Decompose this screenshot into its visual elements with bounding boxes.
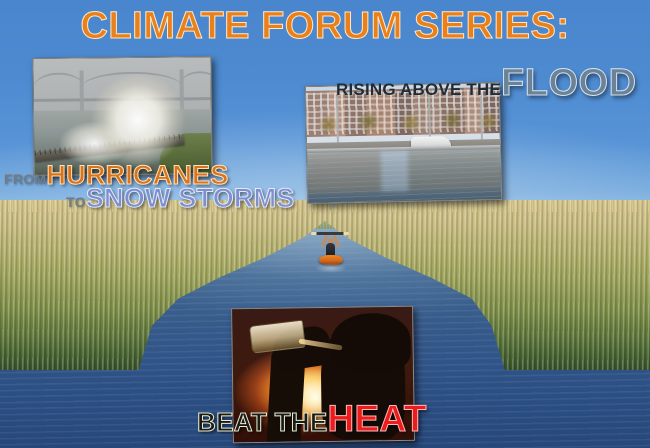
climate-forum-poster: CLIMATE FORUM SERIES: [0, 0, 650, 448]
caption-emphasis-snow-storms: SNOW STORMS [86, 183, 295, 214]
kayak-wake [315, 263, 347, 273]
caption-lead-to: TO [66, 194, 86, 210]
poster-title: CLIMATE FORUM SERIES: [0, 5, 650, 48]
caption-to-snow-storms: TO SNOW STORMS [66, 183, 295, 214]
caption-lead-from: FROM [4, 171, 46, 187]
silhouette-hair [330, 313, 411, 372]
caption-rising-above-the-flood: RISING ABOVE THE FLOOD [336, 62, 637, 105]
water-reflection [307, 149, 501, 193]
paddle-icon [311, 232, 349, 235]
caption-beat-the-heat: BEAT THE HEAT [197, 398, 427, 440]
photo-hurricanes [32, 56, 212, 176]
kayaker-figure [311, 225, 349, 271]
caption-lead-beat-the: BEAT THE [197, 407, 327, 438]
bridge-tower [80, 70, 84, 112]
caption-lead-rising-above-the: RISING ABOVE THE [336, 80, 501, 100]
caption-emphasis-heat: HEAT [327, 398, 426, 440]
wave-spray-main [90, 73, 211, 170]
caption-emphasis-flood: FLOOD [501, 62, 636, 105]
